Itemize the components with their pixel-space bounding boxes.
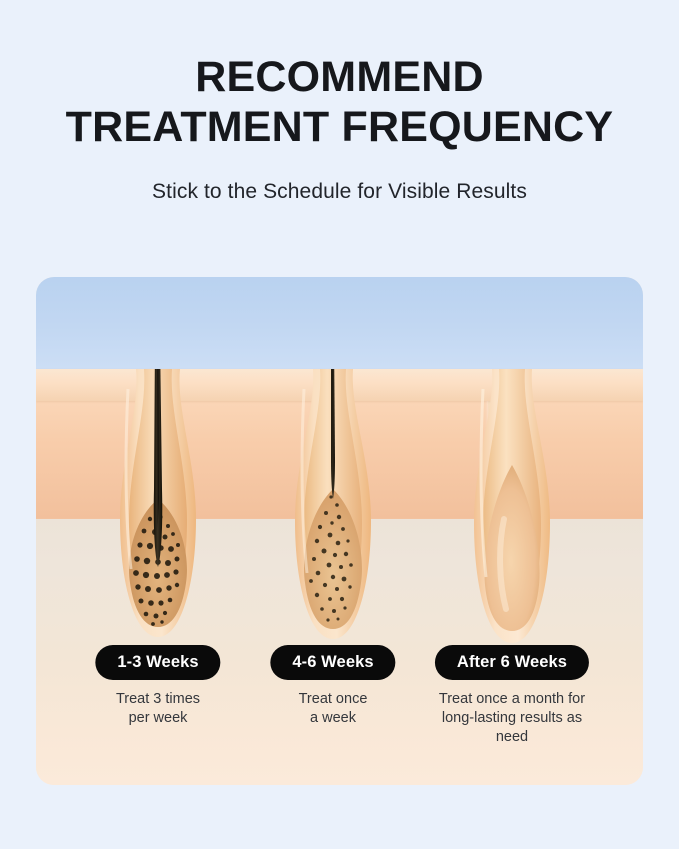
step-labels: 1-3 Weeks Treat 3 times per week 4-6 Wee… (36, 645, 643, 785)
step-caption: Treat 3 times per week (95, 690, 220, 728)
illustration-card: 1-3 Weeks Treat 3 times per week 4-6 Wee… (36, 277, 643, 785)
step-item: 1-3 Weeks Treat 3 times per week (95, 645, 220, 728)
step-caption: Treat once a month for long-lasting resu… (435, 690, 589, 747)
page-header: RECOMMEND TREATMENT FREQUENCY Stick to t… (0, 0, 679, 204)
page-title-line-1: RECOMMEND (195, 53, 483, 101)
skin-surface-air-gradient (36, 277, 643, 381)
follicle-thin-hair (273, 369, 393, 659)
status-badge: 4-6 Weeks (270, 645, 395, 680)
follicle-thick-hair (98, 369, 218, 659)
status-badge: 1-3 Weeks (95, 645, 220, 680)
page-title-line-2: TREATMENT FREQUENCY (0, 102, 679, 152)
step-item: 4-6 Weeks Treat once a week (270, 645, 395, 728)
page-title: RECOMMEND TREATMENT FREQUENCY (0, 52, 679, 152)
step-item: After 6 Weeks Treat once a month for lon… (435, 645, 589, 747)
page-subtitle: Stick to the Schedule for Visible Result… (0, 180, 679, 204)
step-caption: Treat once a week (270, 690, 395, 728)
status-badge: After 6 Weeks (435, 645, 589, 680)
follicle-empty (452, 369, 572, 659)
